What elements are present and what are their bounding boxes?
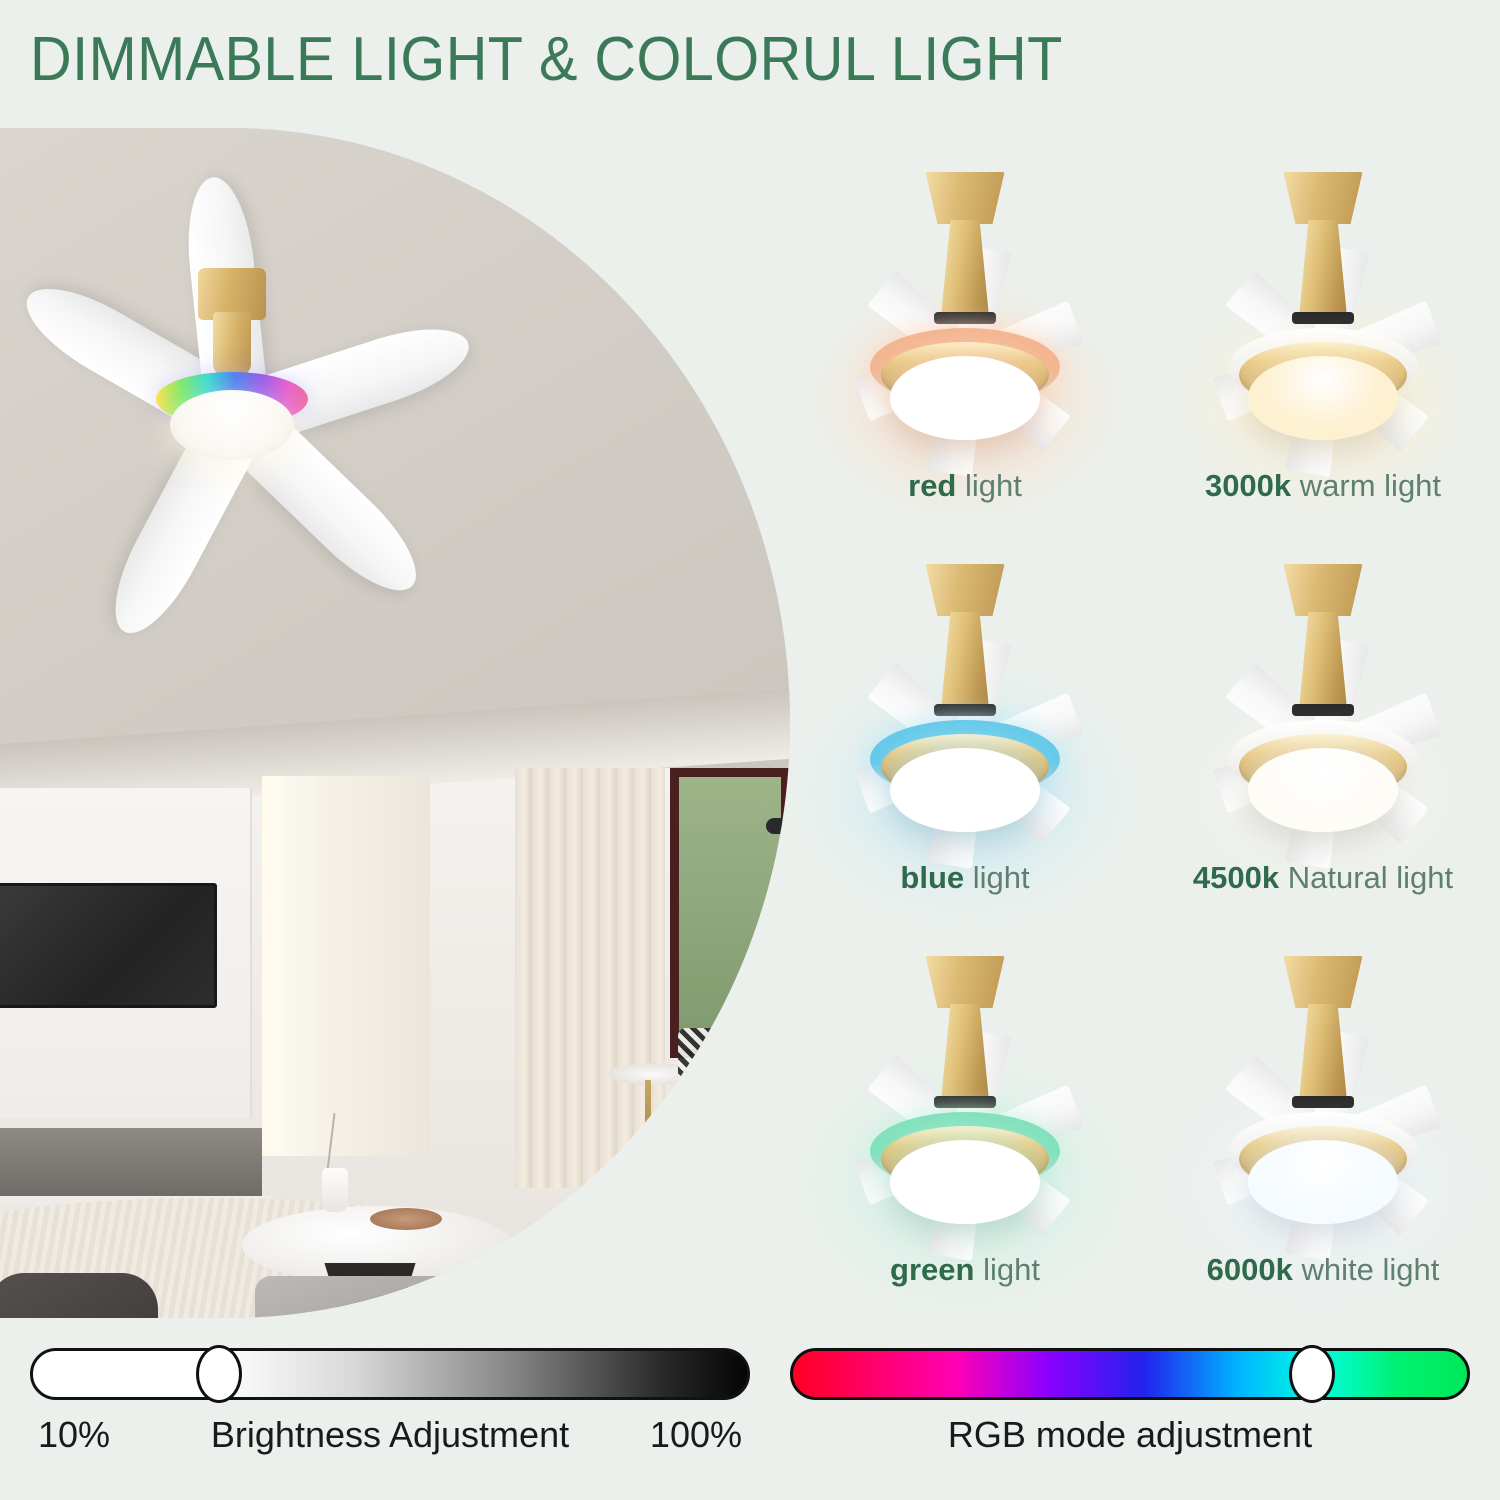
- variant-caption-blue-light: blue light: [790, 860, 1140, 896]
- brightness-slider-block: 10% Brightness Adjustment 100%: [30, 1348, 750, 1460]
- light-diffuser-dome: [890, 748, 1040, 832]
- caption-rest: warm light: [1291, 468, 1441, 503]
- living-room-scene: [0, 128, 790, 1318]
- brightness-slider-knob[interactable]: [196, 1345, 242, 1403]
- variant-cell-blue-light: blue light: [790, 530, 1140, 927]
- light-diffuser-dome: [890, 356, 1040, 440]
- pillar-light-glow: [262, 776, 288, 1156]
- variant-caption-red-light: red light: [790, 468, 1140, 504]
- rgb-slider-knob[interactable]: [1289, 1345, 1335, 1403]
- variant-caption-natural-4500k: 4500k Natural light: [1148, 860, 1498, 896]
- fan-ceiling-mount: [1280, 956, 1366, 1008]
- caption-rest: Natural light: [1279, 860, 1453, 895]
- caption-highlight: green: [890, 1252, 974, 1287]
- variant-caption-white-6000k: 6000k white light: [1148, 1252, 1498, 1288]
- fan-ceiling-mount: [922, 564, 1008, 616]
- curtain: [515, 768, 665, 1188]
- fan-downrod: [1297, 1004, 1349, 1100]
- caption-highlight: 6000k: [1207, 1252, 1293, 1287]
- rgb-slider-block: RGB mode adjustment: [790, 1348, 1470, 1460]
- brightness-min-label: 10%: [38, 1414, 110, 1456]
- fan-ceiling-mount: [922, 956, 1008, 1008]
- fan-downrod: [1297, 612, 1349, 708]
- fan-image-blue-light: [805, 530, 1125, 850]
- rgb-slider-track[interactable]: [790, 1348, 1470, 1400]
- side-table-leg: [645, 1080, 651, 1158]
- fan-image-red-light: [805, 138, 1125, 458]
- downrod-collar: [1292, 1096, 1354, 1108]
- caption-rest: light: [964, 860, 1029, 895]
- vase: [322, 1168, 348, 1212]
- brightness-slider-track[interactable]: [30, 1348, 750, 1400]
- fan-ceiling-mount: [1280, 172, 1366, 224]
- brightness-slider-label: Brightness Adjustment: [211, 1414, 569, 1456]
- downrod-collar: [934, 312, 996, 324]
- sofa: [255, 1276, 485, 1318]
- light-diffuser-dome: [1248, 1140, 1398, 1224]
- page-title: DIMMABLE LIGHT & COLORUL LIGHT: [30, 24, 1063, 95]
- hero-photo-container: [0, 128, 790, 1328]
- fan-downrod: [213, 312, 251, 376]
- caption-highlight: 3000k: [1205, 468, 1291, 503]
- downrod-collar: [1292, 704, 1354, 716]
- hero-circular-mask: [0, 128, 790, 1318]
- fan-image-warm-3000k: [1163, 138, 1483, 458]
- wall-lamp: [766, 818, 790, 834]
- brightness-max-label: 100%: [650, 1414, 742, 1456]
- light-diffuser-dome: [890, 1140, 1040, 1224]
- ceiling: [0, 128, 790, 768]
- fan-downrod: [1297, 220, 1349, 316]
- downrod-collar: [1292, 312, 1354, 324]
- variant-cell-red-light: red light: [790, 138, 1140, 535]
- variant-cell-green-light: green light: [790, 922, 1140, 1319]
- fan-downrod: [939, 220, 991, 316]
- window-left: [670, 768, 790, 1058]
- caption-highlight: red: [908, 468, 956, 503]
- fan-ceiling-mount: [922, 172, 1008, 224]
- variant-caption-green-light: green light: [790, 1252, 1140, 1288]
- television: [0, 883, 217, 1008]
- rgb-slider-label: RGB mode adjustment: [948, 1414, 1312, 1456]
- light-diffuser-dome: [1248, 356, 1398, 440]
- caption-rest: light: [956, 468, 1021, 503]
- light-variant-grid: red light3000k warm lightblue light4500k…: [790, 138, 1490, 1328]
- armchair: [0, 1273, 158, 1318]
- downrod-collar: [934, 1096, 996, 1108]
- light-diffuser-dome: [170, 390, 294, 460]
- fan-downrod: [939, 1004, 991, 1100]
- variant-caption-warm-3000k: 3000k warm light: [1148, 468, 1498, 504]
- fan-image-green-light: [805, 922, 1125, 1242]
- fan-image-white-6000k: [1163, 922, 1483, 1242]
- light-diffuser-dome: [1248, 748, 1398, 832]
- fan-image-natural-4500k: [1163, 530, 1483, 850]
- caption-rest: white light: [1293, 1252, 1439, 1287]
- variant-cell-warm-3000k: 3000k warm light: [1148, 138, 1498, 535]
- caption-highlight: blue: [900, 860, 964, 895]
- fan-ceiling-mount: [1280, 564, 1366, 616]
- caption-highlight: 4500k: [1193, 860, 1279, 895]
- variant-cell-white-6000k: 6000k white light: [1148, 922, 1498, 1319]
- decorative-plate: [370, 1208, 442, 1230]
- caption-rest: light: [974, 1252, 1039, 1287]
- fan-downrod: [939, 612, 991, 708]
- downrod-collar: [934, 704, 996, 716]
- slider-section: 10% Brightness Adjustment 100% RGB mode …: [0, 1348, 1500, 1500]
- houndstooth-chair: [678, 1028, 790, 1158]
- media-console: [0, 1128, 262, 1198]
- variant-cell-natural-4500k: 4500k Natural light: [1148, 530, 1498, 927]
